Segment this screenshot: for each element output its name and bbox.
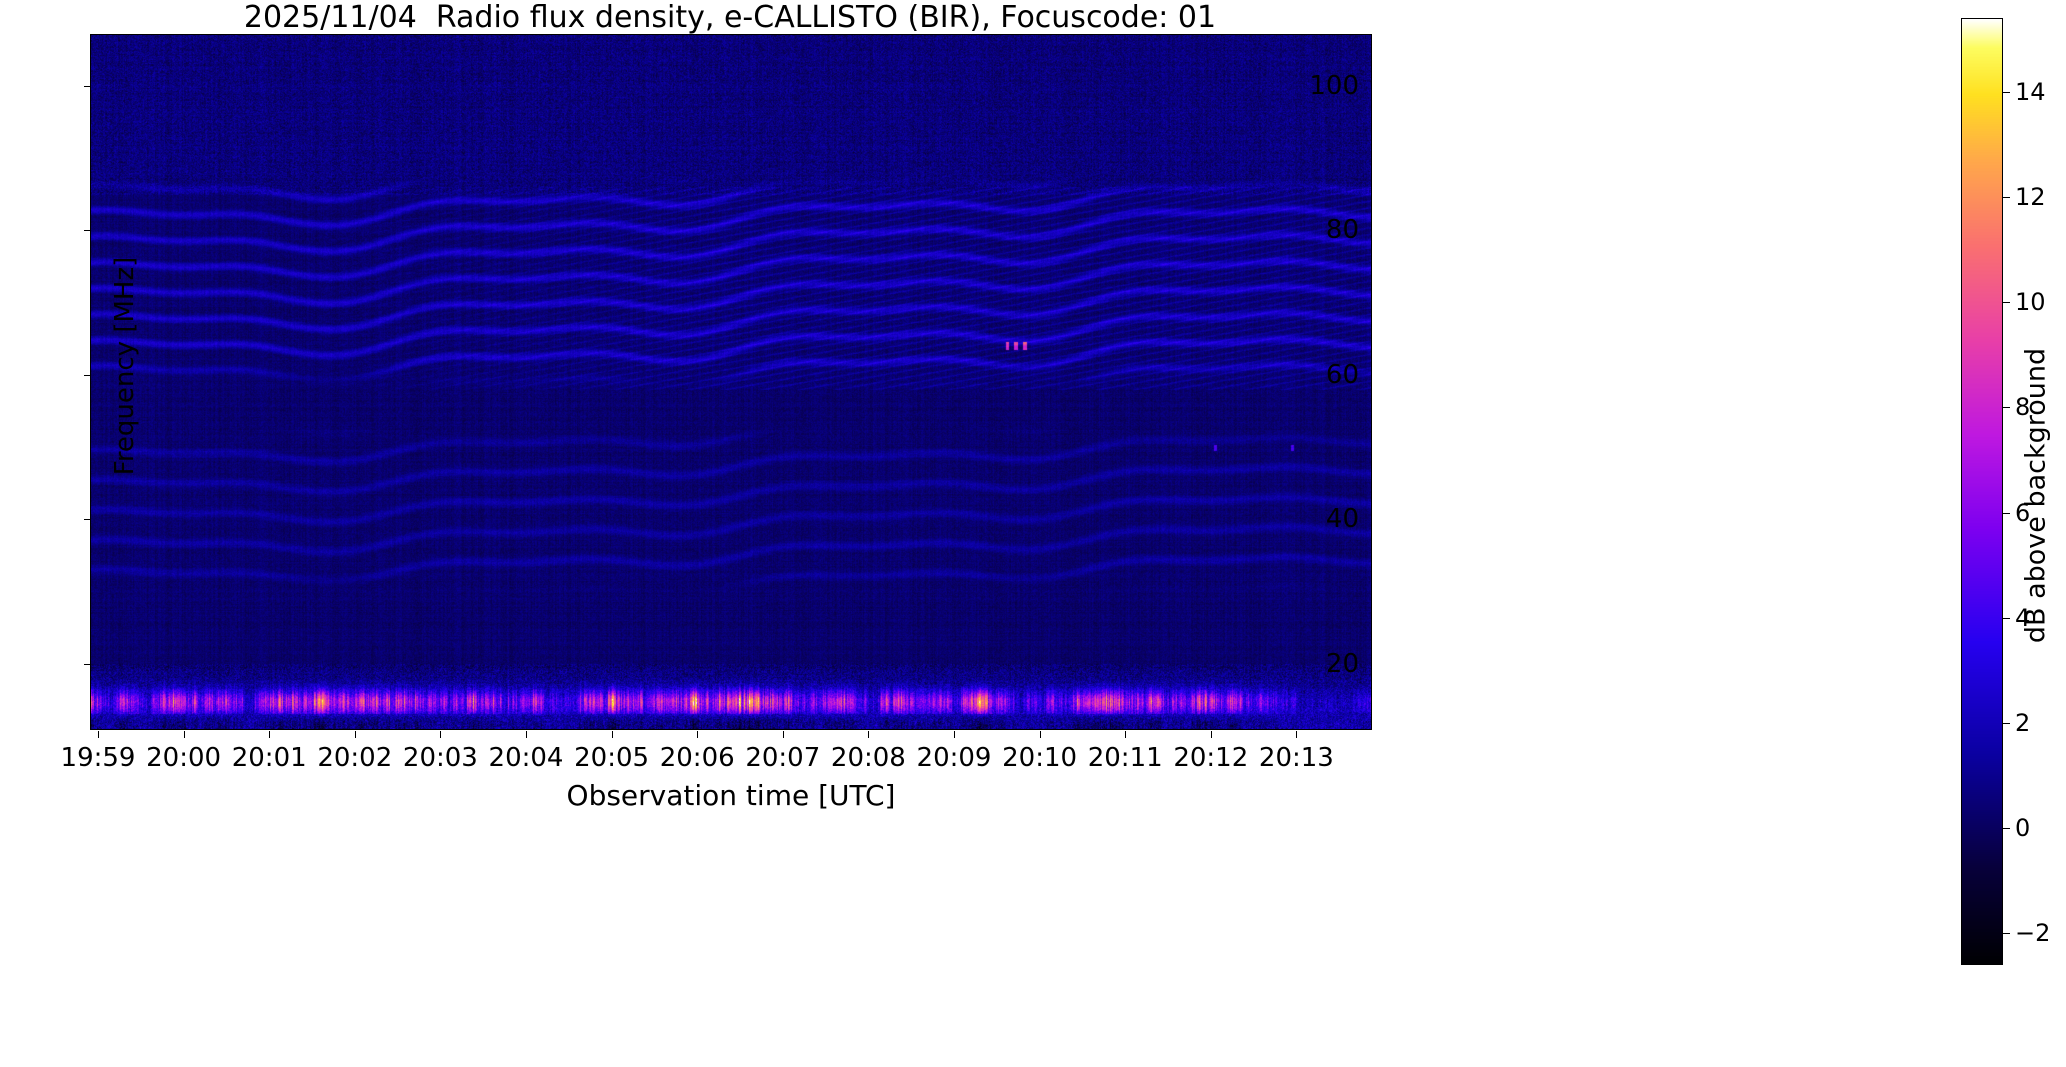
y-tick-mark [84,230,91,231]
x-tick-mark [868,731,869,738]
x-tick-mark [98,731,99,738]
x-tick-mark [440,731,441,738]
x-tick-mark [697,731,698,738]
colorbar-tick-mark [2003,92,2010,93]
x-tick-label: 20:00 [146,743,221,773]
x-tick-label: 20:10 [1002,743,1077,773]
x-tick-mark [526,731,527,738]
x-tick-mark [269,731,270,738]
colorbar[interactable] [1961,18,2003,965]
colorbar-tick-mark [2003,302,2010,303]
x-tick-label: 20:09 [917,743,992,773]
colorbar-tick-mark [2003,513,2010,514]
x-tick-mark [184,731,185,738]
x-tick-mark [783,731,784,738]
colorbar-tick-mark [2003,407,2010,408]
x-tick-mark [1211,731,1212,738]
colorbar-gradient [1962,19,2002,964]
x-tick-label: 20:02 [317,743,392,773]
x-tick-label: 20:08 [831,743,906,773]
colorbar-group: −202468101214 dB above background [1961,18,2066,1018]
y-tick-mark [84,664,91,665]
colorbar-tick-mark [2003,723,2010,724]
y-tick-label: 100 [1309,71,1359,101]
spectrogram-image[interactable] [91,35,1371,729]
spectrogram-figure: 2025/11/04 Radio flux density, e-CALLIST… [0,0,2066,1067]
x-tick-label: 20:06 [660,743,735,773]
colorbar-tick-mark [2003,197,2010,198]
y-tick-label: 60 [1326,360,1359,390]
y-axis-label: Frequency [MHz] [110,86,140,646]
x-tick-mark [355,731,356,738]
y-tick-mark [84,375,91,376]
y-tick-mark [84,86,91,87]
spectrogram-axes[interactable]: Frequency [MHz] 10080604020 19:5920:0020… [90,34,1372,730]
y-tick-mark [84,519,91,520]
x-tick-mark [1040,731,1041,738]
x-tick-label: 19:59 [61,743,136,773]
x-tick-label: 20:11 [1088,743,1163,773]
page-title: 2025/11/04 Radio flux density, e-CALLIST… [90,2,1370,34]
x-tick-mark [1125,731,1126,738]
colorbar-label: dB above background [2021,46,2052,946]
colorbar-tick-mark [2003,618,2010,619]
colorbar-tick-mark [2003,828,2010,829]
x-tick-label: 20:13 [1259,743,1334,773]
x-tick-label: 20:12 [1173,743,1248,773]
y-tick-label: 20 [1326,649,1359,679]
y-tick-label: 40 [1326,504,1359,534]
y-tick-label: 80 [1326,215,1359,245]
x-tick-mark [1296,731,1297,738]
x-axis: 19:5920:0020:0120:0220:0320:0420:0520:06… [91,731,1371,811]
x-tick-mark [954,731,955,738]
x-tick-mark [612,731,613,738]
colorbar-tick-mark [2003,933,2010,934]
x-tick-label: 20:04 [489,743,564,773]
x-tick-label: 20:03 [403,743,478,773]
x-axis-label: Observation time [UTC] [91,779,1371,812]
x-tick-label: 20:05 [574,743,649,773]
x-tick-label: 20:07 [745,743,820,773]
x-tick-label: 20:01 [232,743,307,773]
